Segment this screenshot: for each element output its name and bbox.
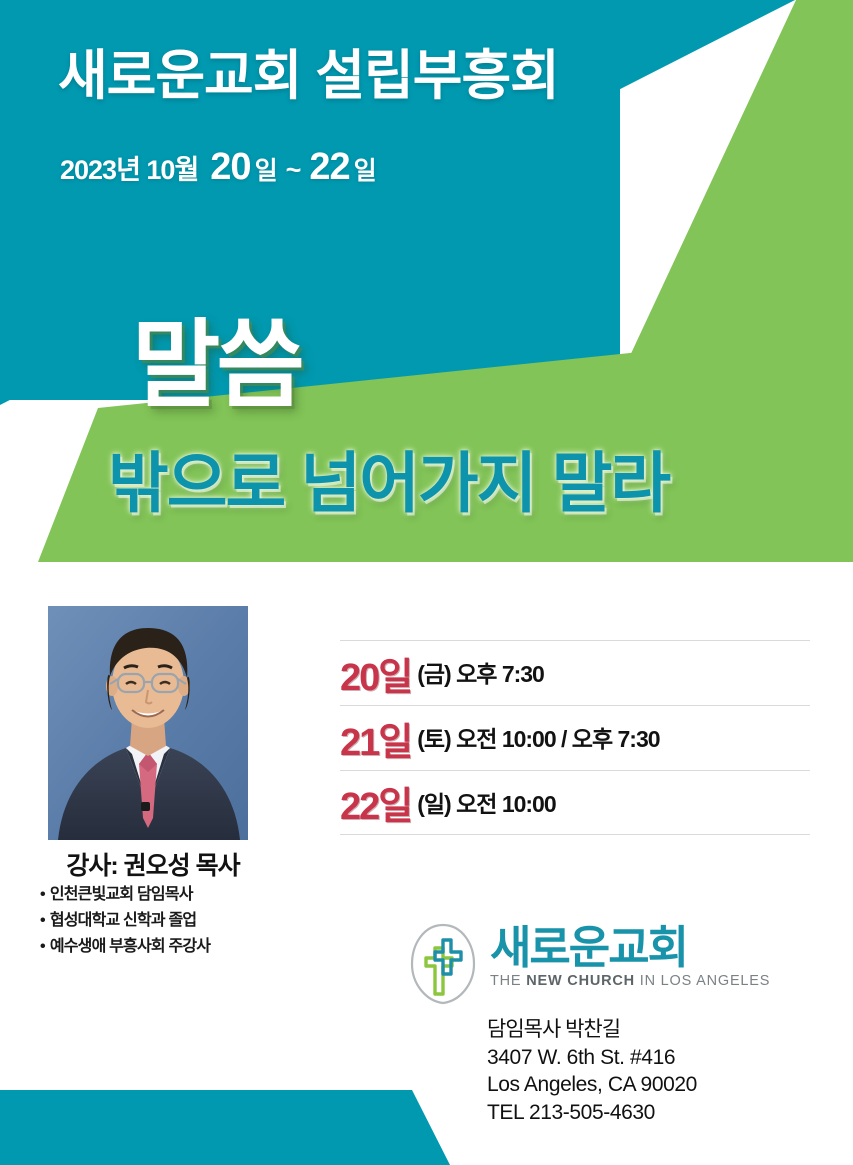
speaker-portrait-photo bbox=[48, 606, 248, 840]
tagline-pre: THE bbox=[490, 973, 526, 989]
table-row: 22일 (일) 오전 10:00 bbox=[340, 770, 810, 835]
schedule-day: 21일 bbox=[340, 711, 411, 766]
schedule-table: 20일 (금) 오후 7:30 21일 (토) 오전 10:00 / 오후 7:… bbox=[340, 640, 810, 835]
schedule-day: 22일 bbox=[340, 775, 411, 830]
logo-text: 새로운교회 THE NEW CHURCH IN LOS ANGELES bbox=[490, 922, 770, 989]
speaker-name: 강사: 권오성 목사 bbox=[28, 846, 278, 882]
tagline-post: IN LOS ANGELES bbox=[635, 973, 770, 989]
schedule-day: 20일 bbox=[340, 646, 411, 701]
contact-address-line1: 3407 W. 6th St. #416 bbox=[487, 1044, 697, 1072]
date-end-unit: 일 bbox=[354, 151, 377, 187]
schedule-detail: (금) 오후 7:30 bbox=[417, 655, 544, 691]
list-item: 협성대학교 신학과 졸업 bbox=[40, 908, 310, 934]
hero-keyword: 말씀 bbox=[132, 318, 301, 414]
logo-korean-name: 새로운교회 bbox=[490, 922, 687, 973]
logo-english-tagline: THE NEW CHURCH IN LOS ANGELES bbox=[490, 973, 770, 989]
contact-address-line2: Los Angeles, CA 90020 bbox=[487, 1071, 697, 1099]
date-start-day: 20 bbox=[210, 146, 250, 189]
date-year-month: 2023년 10월 bbox=[60, 148, 198, 187]
speaker-bio-list: 인천큰빛교회 담임목사 협성대학교 신학과 졸업 예수생애 부흥사회 주강사 bbox=[40, 882, 310, 960]
contact-pastor: 담임목사 박찬길 bbox=[487, 1016, 697, 1044]
list-item: 예수생애 부흥사회 주강사 bbox=[40, 934, 310, 960]
contact-info: 담임목사 박찬길 3407 W. 6th St. #416 Los Angele… bbox=[487, 1016, 697, 1126]
page-title: 새로운교회 설립부흥회 bbox=[58, 48, 559, 105]
teal-footer-band bbox=[0, 1090, 460, 1165]
date-range-separator: ~ bbox=[286, 155, 302, 186]
list-item: 인천큰빛교회 담임목사 bbox=[40, 882, 310, 908]
table-row: 21일 (토) 오전 10:00 / 오후 7:30 bbox=[340, 705, 810, 770]
schedule-detail: (일) 오전 10:00 bbox=[417, 785, 555, 821]
contact-phone: TEL 213-505-4630 bbox=[487, 1099, 697, 1127]
table-row: 20일 (금) 오후 7:30 bbox=[340, 640, 810, 705]
date-start-unit: 일 bbox=[255, 151, 278, 187]
church-logo: 새로운교회 THE NEW CHURCH IN LOS ANGELES bbox=[402, 922, 770, 1006]
event-date-range: 2023년 10월 20 일 ~ 22 일 bbox=[60, 146, 377, 189]
tagline-bold: NEW CHURCH bbox=[526, 973, 635, 989]
schedule-detail: (토) 오전 10:00 / 오후 7:30 bbox=[417, 720, 659, 756]
hero-subtitle: 밖으로 넘어가지 말라 bbox=[108, 450, 669, 516]
date-end-day: 22 bbox=[309, 146, 349, 189]
cross-shield-icon bbox=[402, 922, 484, 1006]
